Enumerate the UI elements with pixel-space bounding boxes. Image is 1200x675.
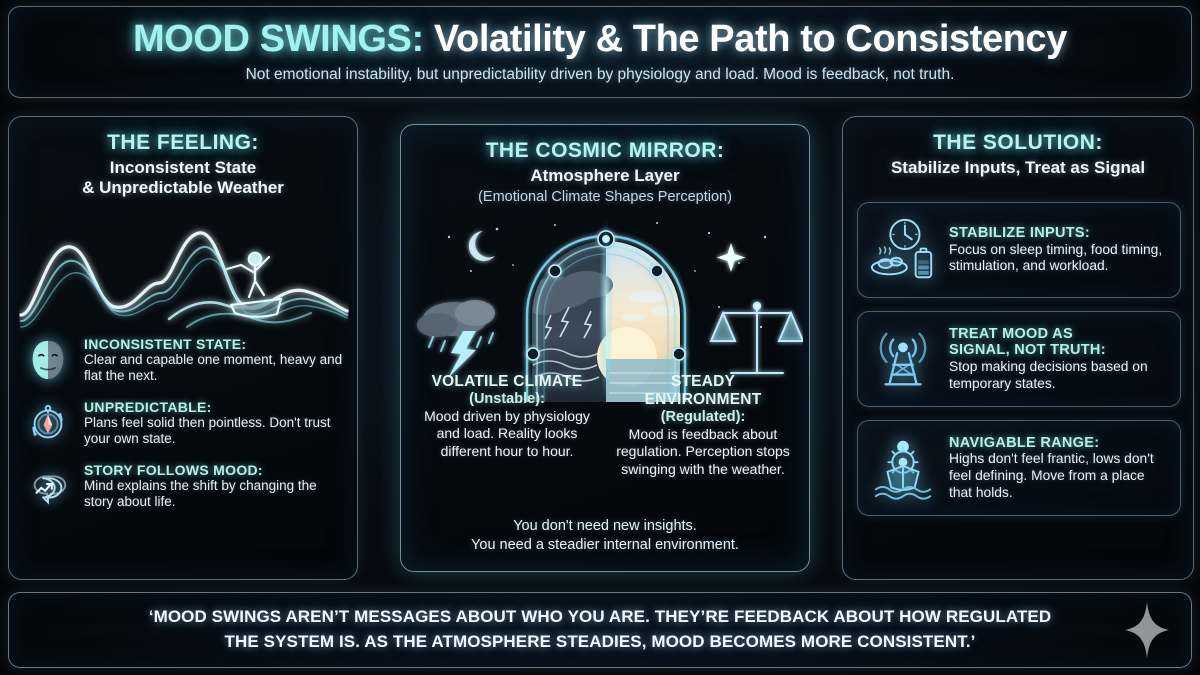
column-subtitle: (Unstable): — [413, 391, 601, 407]
bullet-label: INCONSISTENT STATE: — [84, 336, 347, 352]
clock-meal-battery-icon — [867, 214, 939, 286]
left-bullet-list: INCONSISTENT STATE: Clear and capable on… — [23, 335, 347, 511]
left-panel-subtitle: Inconsistent State & Unpredictable Weath… — [9, 158, 357, 198]
column-steady-environment: STEADY ENVIRONMENT (Regulated): Mood is … — [609, 373, 797, 478]
bullet-label: STORY FOLLOWS MOOD: — [84, 462, 347, 478]
card-desc: Focus on sleep timing, food timing, stim… — [949, 242, 1169, 275]
footer-quote-banner: ‘MOOD SWINGS AREN’T MESSAGES ABOUT WHO Y… — [8, 592, 1192, 668]
right-panel-title: THE SOLUTION: — [843, 131, 1193, 155]
column-body: Mood driven by physiology and load. Real… — [413, 408, 601, 461]
title-rest: Volatility & The Path to Consistency — [424, 18, 1067, 60]
speech-bubble-trend-icon — [23, 461, 73, 511]
card-label: NAVIGABLE RANGE: — [949, 435, 1169, 452]
bullet-label: UNPREDICTABLE: — [84, 399, 347, 415]
ship-helm-waves-icon — [867, 432, 939, 504]
left-panel-header: THE FEELING: Inconsistent State & Unpred… — [9, 117, 357, 198]
column-title: STEADY ENVIRONMENT — [609, 373, 797, 409]
sparkle-diamond-icon — [1125, 602, 1169, 658]
bullet-inconsistent-state: INCONSISTENT STATE: Clear and capable on… — [23, 335, 347, 385]
balance-scales-icon — [711, 303, 803, 373]
header-banner: MOOD SWINGS: Volatility & The Path to Co… — [8, 6, 1192, 98]
bullet-desc: Mind explains the shift by changing the … — [84, 478, 347, 511]
bullet-unpredictable: UNPREDICTABLE: Plans feel solid then poi… — [23, 398, 347, 448]
card-desc: Highs don't feel frantic, lows don't fee… — [949, 451, 1169, 501]
right-panel-subtitle: Stabilize Inputs, Treat as Signal — [843, 158, 1193, 178]
solution-card-list: STABILIZE INPUTS: Focus on sleep timing,… — [857, 202, 1181, 516]
card-navigable-range[interactable]: NAVIGABLE RANGE: Highs don't feel franti… — [857, 420, 1181, 516]
infographic-canvas: MOOD SWINGS: Volatility & The Path to Co… — [0, 0, 1200, 675]
radio-tower-signal-icon — [867, 323, 939, 395]
title-accent: MOOD SWINGS: — [133, 18, 424, 60]
bullet-desc: Clear and capable one moment, heavy and … — [84, 352, 347, 385]
center-panel-caption: (Emotional Climate Shapes Perception) — [401, 189, 809, 205]
panel-the-cosmic-mirror: THE COSMIC MIRROR: Atmosphere Layer (Emo… — [400, 124, 810, 572]
bullet-desc: Plans feel solid then pointless. Don't t… — [84, 415, 347, 448]
split-face-mask-icon — [23, 335, 73, 385]
center-comparison-columns: VOLATILE CLIMATE (Unstable): Mood driven… — [413, 373, 797, 478]
right-panel-header: THE SOLUTION: Stabilize Inputs, Treat as… — [843, 117, 1193, 178]
bullet-story-follows-mood: STORY FOLLOWS MOOD: Mind explains the sh… — [23, 461, 347, 511]
compass-icon — [23, 398, 73, 448]
center-panel-title: THE COSMIC MIRROR: — [401, 139, 809, 163]
card-label: STABILIZE INPUTS: — [949, 225, 1169, 242]
card-label: TREAT MOOD AS SIGNAL, NOT TRUTH: — [949, 326, 1169, 359]
page-subtitle: Not emotional instability, but unpredict… — [246, 66, 955, 84]
center-panel-header: THE COSMIC MIRROR: Atmosphere Layer (Emo… — [401, 125, 809, 205]
card-desc: Stop making decisions based on temporary… — [949, 359, 1169, 392]
card-treat-mood-as-signal[interactable]: TREAT MOOD AS SIGNAL, NOT TRUTH: Stop ma… — [857, 311, 1181, 407]
column-title: VOLATILE CLIMATE — [413, 373, 601, 391]
stormy-waves-with-boat-illustration — [19, 207, 349, 332]
storm-cloud-lightning-icon — [417, 300, 495, 378]
column-subtitle: (Regulated): — [609, 409, 797, 425]
left-panel-title: THE FEELING: — [9, 131, 357, 155]
center-footnote: You don't need new insights. You need a … — [415, 517, 795, 555]
column-volatile-climate: VOLATILE CLIMATE (Unstable): Mood driven… — [413, 373, 601, 478]
footer-quote: ‘MOOD SWINGS AREN’T MESSAGES ABOUT WHO Y… — [149, 605, 1052, 654]
center-panel-subtitle: Atmosphere Layer — [401, 166, 809, 186]
panel-the-feeling: THE FEELING: Inconsistent State & Unpred… — [8, 116, 358, 580]
card-stabilize-inputs[interactable]: STABILIZE INPUTS: Focus on sleep timing,… — [857, 202, 1181, 298]
panel-the-solution: THE SOLUTION: Stabilize Inputs, Treat as… — [842, 116, 1194, 580]
column-body: Mood is feedback about regulation. Perce… — [609, 426, 797, 479]
page-title: MOOD SWINGS: Volatility & The Path to Co… — [133, 20, 1067, 60]
